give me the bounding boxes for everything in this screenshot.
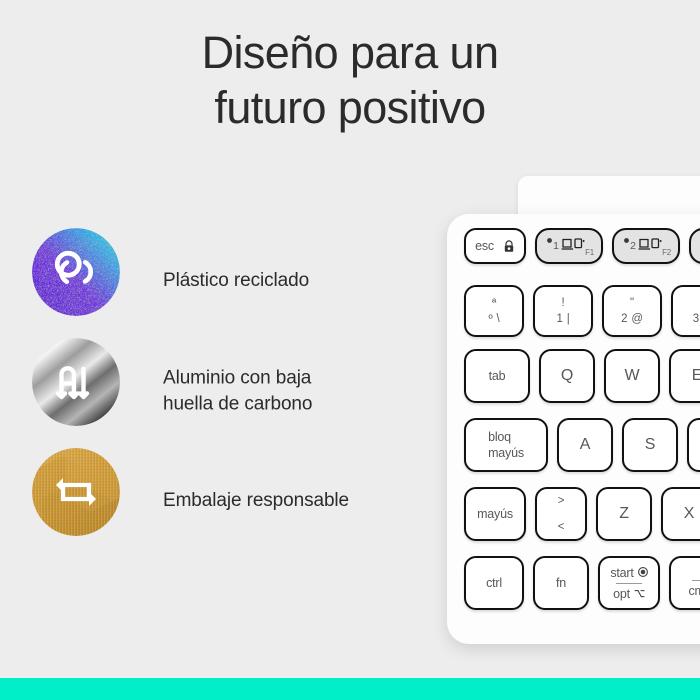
key-z[interactable]: Z	[596, 487, 652, 541]
key-q-label: Q	[561, 367, 573, 385]
key-a-label: A	[580, 436, 590, 454]
key-d[interactable]: D	[687, 418, 700, 472]
lock-icon	[503, 240, 515, 253]
key-2[interactable]: " 2 @	[602, 285, 662, 337]
feature-recycled-plastic: Plástico reciclado	[30, 226, 450, 336]
feature-label: Embalaje responsable	[163, 488, 349, 514]
key-f2[interactable]: 2 F2	[612, 228, 680, 264]
key-q[interactable]: Q	[539, 349, 595, 403]
low-carbon-aluminium-badge-icon	[32, 338, 120, 426]
key-fn-label: fn	[556, 576, 566, 590]
key-tab-label: tab	[489, 369, 506, 383]
responsible-packaging-badge-icon	[32, 448, 120, 536]
key-e-label: E	[692, 367, 700, 385]
key-masculine-ordinal[interactable]: ª º \	[464, 285, 524, 337]
key-start-label: start	[610, 565, 633, 581]
key-shift-label: mayús	[477, 507, 513, 521]
capslock-row: bloq mayús A S D	[464, 418, 700, 472]
page-title-line-1: Diseño para un	[0, 26, 700, 81]
option-icon	[634, 586, 645, 602]
key-1[interactable]: ! 1 |	[533, 285, 593, 337]
feature-label: Plástico reciclado	[163, 268, 309, 294]
key-w-label: W	[625, 367, 640, 385]
key-esc[interactable]: esc	[464, 228, 526, 264]
key-cmd[interactable]: cmd	[669, 556, 700, 610]
pairing-dot-icon	[545, 236, 554, 245]
number-row: ª º \ ! 1 | "	[464, 285, 700, 337]
key-w[interactable]: W	[604, 349, 660, 403]
key-z-label: Z	[619, 505, 629, 523]
brand-accent-bar	[0, 678, 700, 700]
key-tab[interactable]: tab	[464, 349, 530, 403]
page-title-line-2: futuro positivo	[0, 81, 700, 136]
key-f3[interactable]: 3 F3	[689, 228, 700, 264]
key-f2-sub: F2	[662, 248, 671, 257]
key-s-label: S	[645, 436, 655, 454]
key-greater-than: >	[558, 494, 565, 509]
key-ctrl-label: ctrl	[486, 576, 502, 590]
key-1-bottom: 1	[557, 312, 563, 327]
key-2-bottom: 2	[621, 312, 627, 327]
key-1-top: !	[562, 296, 565, 311]
key-less-than: <	[558, 520, 565, 535]
recycled-plastic-badge-icon	[32, 228, 120, 316]
key-3[interactable]: · 3 #	[671, 285, 700, 337]
page-title: Diseño para un futuro positivo	[0, 26, 700, 136]
device-switch-icon	[638, 238, 662, 254]
key-esc-label: esc	[475, 239, 494, 253]
key-caps-lock[interactable]: bloq mayús	[464, 418, 548, 472]
key-f2-number: 2	[630, 240, 636, 252]
key-cmd-label: cmd	[688, 583, 700, 599]
key-3-bottom: 3	[693, 312, 699, 327]
key-ordinal-bottom: º	[488, 312, 492, 327]
feature-low-carbon-aluminium: Aluminio con baja huella de carbono	[30, 336, 450, 446]
feature-label: Aluminio con baja huella de carbono	[163, 365, 312, 416]
key-2-extra: @	[631, 312, 642, 327]
sustainability-promo-page: Diseño para un futuro positivo	[0, 0, 700, 700]
windows-start-icon	[638, 565, 648, 581]
key-2-top: "	[630, 296, 634, 311]
key-f1-sub: F1	[585, 248, 594, 257]
key-opt-label: opt	[613, 586, 630, 602]
key-f1-number: 1	[553, 240, 559, 252]
key-less-greater[interactable]: > <	[535, 487, 587, 541]
logitech-wireless-keyboard: esc 1	[447, 176, 700, 646]
key-fn[interactable]: fn	[533, 556, 589, 610]
key-e[interactable]: E	[669, 349, 700, 403]
key-x-label: X	[684, 505, 694, 523]
key-a[interactable]: A	[557, 418, 613, 472]
device-switch-icon	[561, 238, 585, 254]
tab-row: tab Q W E	[464, 349, 700, 403]
pairing-dot-icon	[622, 236, 631, 245]
key-ordinal-extra: \	[497, 312, 500, 327]
modifier-row: ctrl fn start opt	[464, 556, 700, 610]
key-f1[interactable]: 1 F1	[535, 228, 603, 264]
function-row: esc 1	[464, 228, 700, 264]
key-x[interactable]: X	[661, 487, 700, 541]
key-s[interactable]: S	[622, 418, 678, 472]
shift-row: mayús > < Z X	[464, 487, 700, 541]
feature-responsible-packaging: Embalaje responsable	[30, 446, 450, 556]
sustainability-feature-list: Plástico reciclado	[30, 226, 450, 556]
key-1-extra: |	[567, 312, 570, 327]
key-shift[interactable]: mayús	[464, 487, 526, 541]
key-ctrl[interactable]: ctrl	[464, 556, 524, 610]
key-caps-lock-label: bloq mayús	[488, 429, 524, 462]
key-start-opt[interactable]: start opt	[598, 556, 660, 610]
key-ordinal-top: ª	[492, 296, 496, 311]
